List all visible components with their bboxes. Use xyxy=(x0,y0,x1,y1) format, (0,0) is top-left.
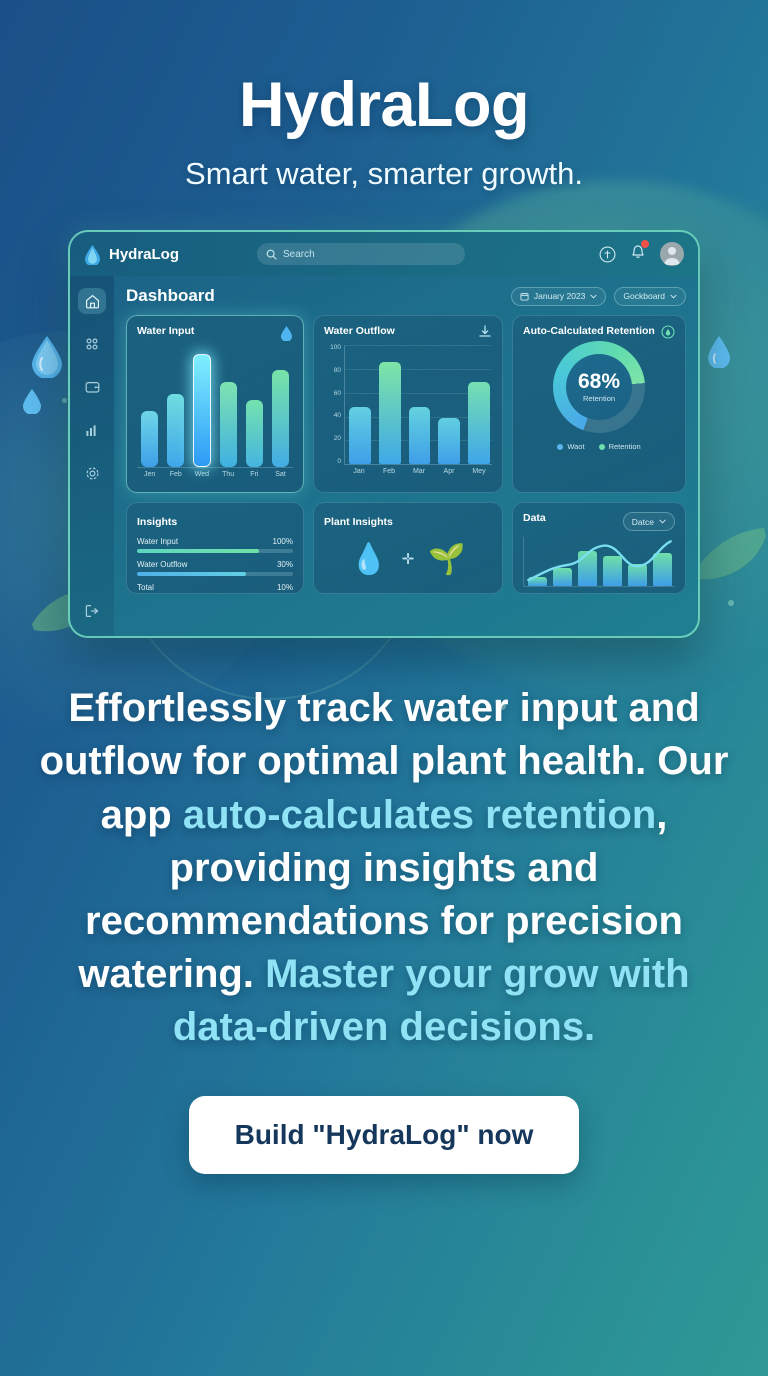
card-data[interactable]: Data Datce xyxy=(512,502,686,594)
water-input-x-axis: Jen Feb Wed Thu Fri Sat xyxy=(137,467,293,478)
card-water-input[interactable]: Water Input xyxy=(126,315,304,493)
y-tick: 60 xyxy=(334,391,341,398)
search-icon xyxy=(266,249,277,260)
x-tick: Apr xyxy=(438,468,460,475)
bar-highlighted xyxy=(193,354,212,467)
notifications-button[interactable] xyxy=(630,243,646,265)
sidebar xyxy=(70,276,114,636)
sidebar-item-apps[interactable] xyxy=(78,331,106,357)
brand: HydraLog xyxy=(84,244,179,265)
sidebar-item-analytics[interactable] xyxy=(78,417,106,443)
search-placeholder: Search xyxy=(283,249,315,260)
add-circle-icon[interactable] xyxy=(599,246,616,263)
marketing-copy: Effortlessly track water input and outfl… xyxy=(34,682,734,1054)
bar xyxy=(438,418,460,464)
avatar[interactable] xyxy=(660,242,684,266)
sidebar-item-logout[interactable] xyxy=(78,598,106,624)
x-tick: Wed xyxy=(193,471,210,478)
view-filter-label: Gockboard xyxy=(623,291,665,301)
dashboard-title: Dashboard xyxy=(126,286,215,306)
hero-section: HydraLog Smart water, smarter growth. xyxy=(0,0,768,192)
retention-value-label: Retention xyxy=(583,394,615,403)
legend-label: Retention xyxy=(609,442,641,451)
insight-row: Water Input 100% xyxy=(137,537,293,546)
bar xyxy=(272,370,289,467)
seedling-icon: 🌱 xyxy=(428,542,465,577)
dot-decoration-right xyxy=(728,600,734,606)
retention-donut-chart: 68% Retention Waot Retention xyxy=(523,341,675,451)
legend-item: Retention xyxy=(599,442,641,451)
chevron-down-icon xyxy=(670,294,677,299)
grid-apps-icon xyxy=(85,337,99,351)
x-tick: Jen xyxy=(141,471,158,478)
card-title-data: Data xyxy=(523,512,546,525)
x-tick: Thu xyxy=(220,471,237,478)
dashboard-header: Dashboard January 2023 xyxy=(126,286,686,306)
x-tick: Jan xyxy=(348,468,370,475)
build-app-button[interactable]: Build "HydraLog" now xyxy=(189,1096,580,1174)
chevron-down-icon xyxy=(659,519,666,524)
water-download-icon xyxy=(478,325,492,339)
bar xyxy=(349,407,371,464)
insight-label: Total xyxy=(137,583,154,592)
card-title-plant-insights: Plant Insights xyxy=(324,516,393,528)
app-topbar: HydraLog Search xyxy=(70,232,698,276)
data-dropdown-label: Datce xyxy=(632,517,654,527)
insight-value: 10% xyxy=(277,583,293,592)
plus-icon: ✛ xyxy=(402,550,415,568)
insight-label: Water Outflow xyxy=(137,560,187,569)
page-title: HydraLog xyxy=(0,72,768,138)
brand-name: HydraLog xyxy=(109,246,179,263)
card-water-outflow[interactable]: Water Outflow 100 80 60 xyxy=(313,315,503,493)
logout-icon xyxy=(85,604,100,618)
bar xyxy=(468,382,490,464)
retention-value: 68% xyxy=(578,371,620,392)
y-tick: 40 xyxy=(334,413,341,420)
copy-highlight-1: auto-calculates retention xyxy=(183,793,656,837)
date-filter-label: January 2023 xyxy=(534,291,586,301)
chevron-down-icon xyxy=(590,294,597,299)
y-tick: 0 xyxy=(337,459,341,466)
bar xyxy=(141,411,158,468)
legend-item: Waot xyxy=(557,442,584,451)
card-title-insights: Insights xyxy=(137,516,177,528)
droplet-logo-icon xyxy=(84,244,101,265)
sidebar-item-home[interactable] xyxy=(78,288,106,314)
dashboard-mockup: HydraLog Search xyxy=(68,230,700,638)
insight-progress xyxy=(137,572,293,576)
water-input-chart xyxy=(137,349,293,467)
water-droplet-decoration-large xyxy=(30,334,64,378)
water-outflow-x-axis: Jan Feb Mar Apr Mey xyxy=(324,465,492,475)
gear-icon xyxy=(85,466,100,481)
water-droplet-icon: 💧 xyxy=(350,542,387,577)
y-axis: 100 80 60 40 20 0 xyxy=(324,345,344,465)
data-combo-chart xyxy=(523,537,675,587)
bar xyxy=(379,362,401,464)
data-dropdown[interactable]: Datce xyxy=(623,512,675,531)
water-droplet-icon xyxy=(280,325,293,341)
bar xyxy=(409,407,431,464)
x-tick: Fri xyxy=(246,471,263,478)
insight-progress xyxy=(137,549,293,553)
insight-label: Water Input xyxy=(137,537,178,546)
x-tick: Sat xyxy=(272,471,289,478)
card-plant-insights[interactable]: Plant Insights 💧 ✛ 🌱 xyxy=(313,502,503,594)
sidebar-item-settings[interactable] xyxy=(78,460,106,486)
insight-value: 30% xyxy=(277,560,293,569)
x-tick: Feb xyxy=(167,471,184,478)
water-droplet-decoration-right xyxy=(706,334,732,368)
date-filter-dropdown[interactable]: January 2023 xyxy=(511,287,607,306)
bar-chart-icon xyxy=(85,423,99,437)
retention-legend: Waot Retention xyxy=(557,442,640,451)
bar xyxy=(167,394,184,467)
cta-section: Build "HydraLog" now xyxy=(0,1096,768,1174)
user-avatar-icon xyxy=(660,242,684,266)
water-outflow-chart: 100 80 60 40 20 0 xyxy=(324,345,492,465)
card-title-water-outflow: Water Outflow xyxy=(324,325,395,338)
search-input[interactable]: Search xyxy=(257,243,465,265)
insight-value: 100% xyxy=(273,537,293,546)
view-filter-dropdown[interactable]: Gockboard xyxy=(614,287,686,306)
card-retention[interactable]: Auto-Calculated Retention 68% Retention xyxy=(512,315,686,493)
dot-decoration-left xyxy=(62,398,67,403)
wallet-icon xyxy=(85,380,100,394)
plant-insights-art: 💧 ✛ 🌱 xyxy=(324,530,492,588)
trend-line xyxy=(524,537,675,591)
hero-tagline: Smart water, smarter growth. xyxy=(0,156,768,192)
y-tick: 20 xyxy=(334,436,341,443)
x-tick: Feb xyxy=(378,468,400,475)
retention-target-icon xyxy=(661,325,675,339)
home-icon xyxy=(85,294,100,309)
card-insights[interactable]: Insights Water Input 100% Water Outflow … xyxy=(126,502,304,594)
y-tick: 100 xyxy=(330,345,341,352)
bar xyxy=(220,382,237,467)
topbar-actions xyxy=(599,242,684,266)
insight-row: Total 10% xyxy=(137,583,293,592)
card-title-retention: Auto-Calculated Retention xyxy=(523,325,655,338)
notification-badge xyxy=(641,240,649,248)
card-title-water-input: Water Input xyxy=(137,325,194,338)
y-tick: 80 xyxy=(334,368,341,375)
legend-label: Waot xyxy=(567,442,584,451)
sidebar-item-wallet[interactable] xyxy=(78,374,106,400)
calendar-icon xyxy=(520,292,529,301)
x-tick: Mar xyxy=(408,468,430,475)
water-droplet-decoration-small xyxy=(22,388,42,414)
insight-row: Water Outflow 30% xyxy=(137,560,293,569)
bar xyxy=(246,400,263,467)
x-tick: Mey xyxy=(468,468,490,475)
